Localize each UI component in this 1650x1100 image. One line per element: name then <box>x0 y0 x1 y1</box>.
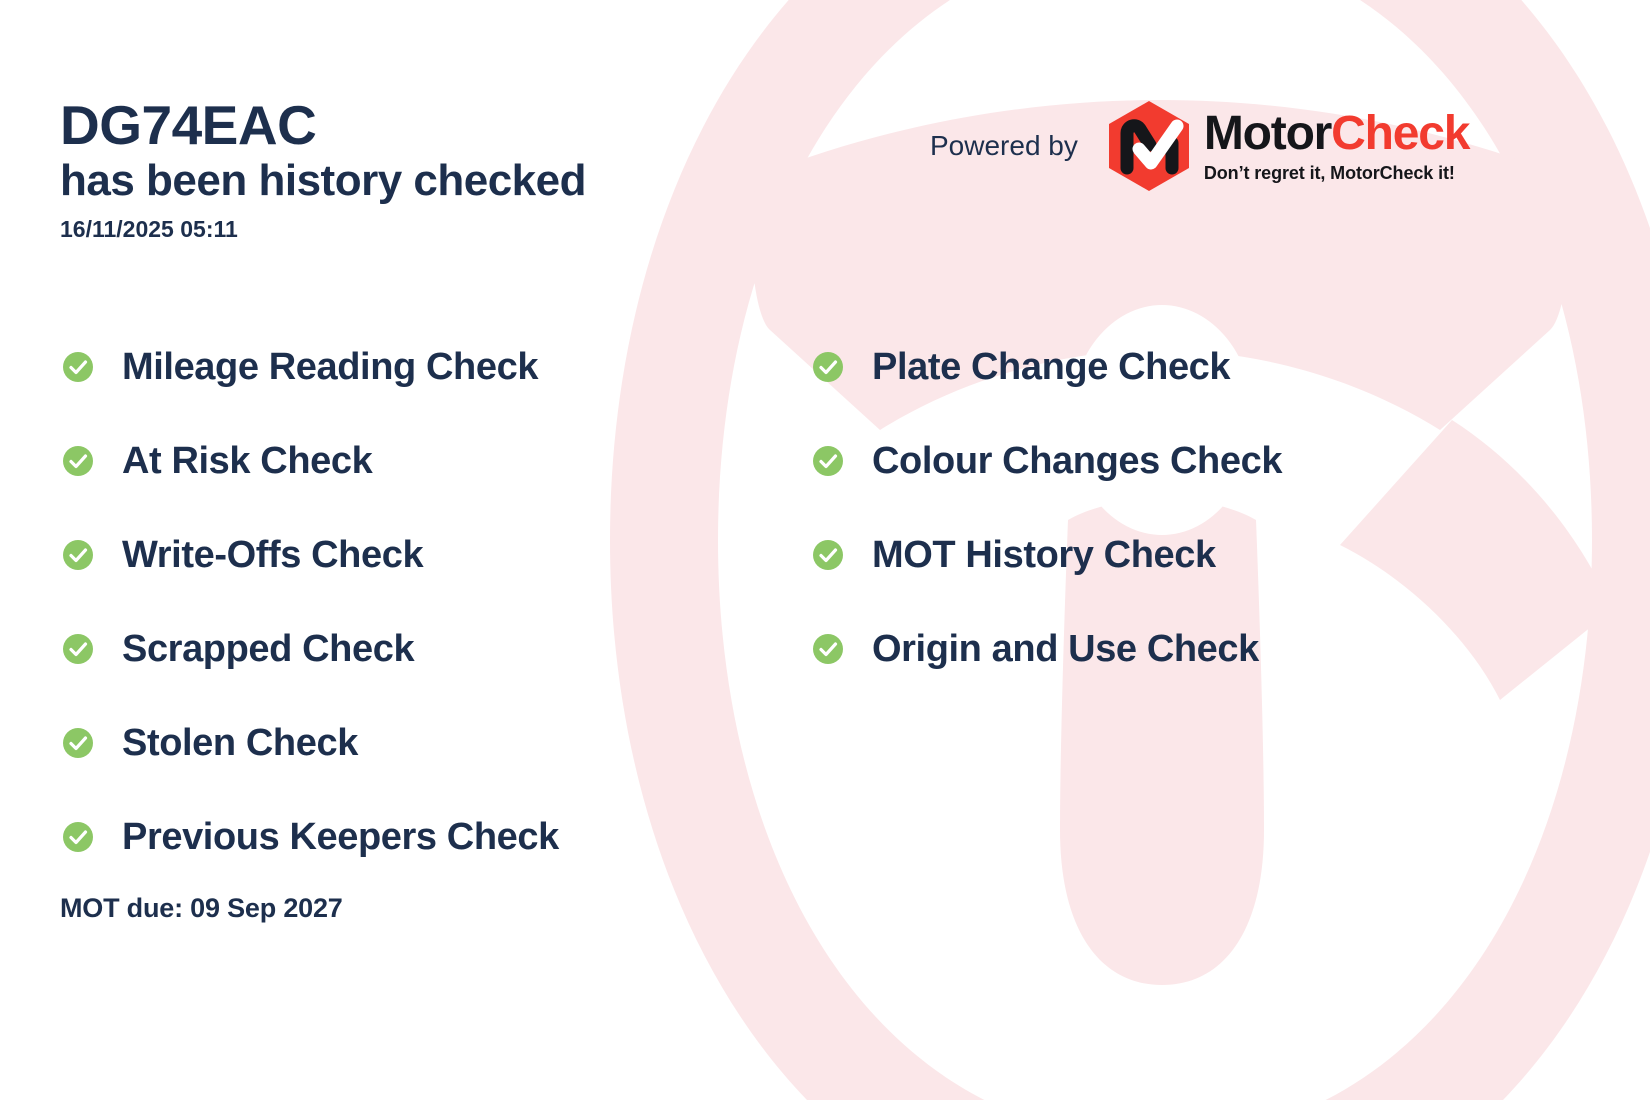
check-circle-icon <box>62 351 94 383</box>
motorcheck-wordmark: MotorCheck Don’t regret it, MotorCheck i… <box>1204 110 1469 182</box>
checks-column-right: Plate Change Check Colour Changes Check … <box>812 320 1282 696</box>
check-label: Origin and Use Check <box>872 630 1259 668</box>
check-label: Stolen Check <box>122 724 358 762</box>
check-circle-icon <box>812 351 844 383</box>
check-timestamp: 16/11/2025 05:11 <box>60 216 586 243</box>
motorcheck-hexagon-logo-icon <box>1106 100 1192 192</box>
checks-column-left: Mileage Reading Check At Risk Check Writ… <box>62 320 559 884</box>
check-circle-icon <box>62 445 94 477</box>
title-subtitle: has been history checked <box>60 155 586 207</box>
vehicle-registration: DG74EAC <box>60 96 586 155</box>
check-circle-icon <box>62 539 94 571</box>
check-circle-icon <box>812 445 844 477</box>
check-label: Mileage Reading Check <box>122 348 538 386</box>
logo-wordmark-line: MotorCheck <box>1204 110 1469 158</box>
check-circle-icon <box>62 727 94 759</box>
check-list-item: Mileage Reading Check <box>62 320 559 414</box>
check-list-item: Scrapped Check <box>62 602 559 696</box>
check-list-item: Write-Offs Check <box>62 508 559 602</box>
check-circle-icon <box>62 633 94 665</box>
logo-word-check: Check <box>1331 107 1469 160</box>
logo-tagline: Don’t regret it, MotorCheck it! <box>1204 164 1469 182</box>
check-circle-icon <box>812 539 844 571</box>
page-title: DG74EAC has been history checked 16/11/2… <box>60 96 586 243</box>
check-circle-icon <box>812 633 844 665</box>
check-list-item: MOT History Check <box>812 508 1282 602</box>
powered-by-brand: Powered by MotorCheck Don’t regret it, M… <box>930 100 1469 192</box>
check-list-item: Origin and Use Check <box>812 602 1282 696</box>
logo-word-motor: Motor <box>1204 107 1331 160</box>
check-list-item: Previous Keepers Check <box>62 790 559 884</box>
check-list-item: Stolen Check <box>62 696 559 790</box>
check-label: Write-Offs Check <box>122 536 423 574</box>
check-list-item: At Risk Check <box>62 414 559 508</box>
powered-by-label: Powered by <box>930 130 1078 162</box>
mot-due-date: MOT due: 09 Sep 2027 <box>60 893 343 924</box>
check-label: Colour Changes Check <box>872 442 1282 480</box>
check-list-item: Colour Changes Check <box>812 414 1282 508</box>
check-label: At Risk Check <box>122 442 372 480</box>
history-check-summary-card: DG74EAC has been history checked 16/11/2… <box>0 0 1650 1100</box>
check-label: Previous Keepers Check <box>122 818 559 856</box>
check-circle-icon <box>62 821 94 853</box>
check-label: Scrapped Check <box>122 630 414 668</box>
check-list-item: Plate Change Check <box>812 320 1282 414</box>
check-label: MOT History Check <box>872 536 1216 574</box>
check-label: Plate Change Check <box>872 348 1230 386</box>
